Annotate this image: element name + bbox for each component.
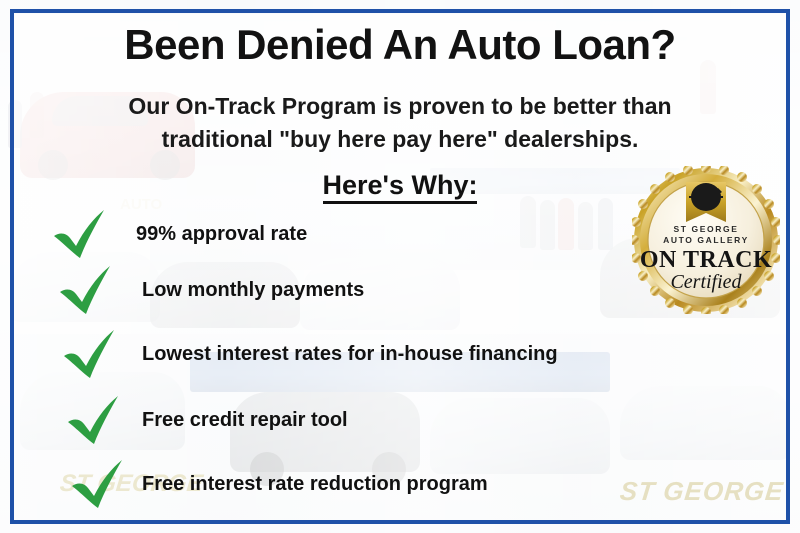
badge-title: ON TRACK [640,247,772,273]
certification-badge: ST GEORGE AUTO GALLERY ON TRACK Certifie… [632,166,780,314]
list-item-label: Low monthly payments [142,279,364,302]
check-icon [60,328,118,380]
check-icon [50,208,108,260]
list-item: 99% approval rate [50,206,307,262]
ad-content: Been Denied An Auto Loan? Our On-Track P… [0,0,800,533]
list-item: Low monthly payments [56,262,364,318]
ad-banner: AUTO ST GEORGE ST GEORGE Been Denied An … [0,0,800,533]
badge-subtitle: Certified [670,271,742,293]
list-item: Lowest interest rates for in-house finan… [60,326,558,382]
badge-brand-line-2: AUTO GALLERY [663,235,749,245]
list-item: Free interest rate reduction program [68,456,488,512]
badge-brand-line-1: ST GEORGE [674,224,739,234]
check-icon [64,394,122,446]
check-icon [68,458,126,510]
list-item-label: Free credit repair tool [142,409,348,432]
list-item: Free credit repair tool [64,392,348,448]
check-icon [56,264,114,316]
list-item-label: Lowest interest rates for in-house finan… [142,343,558,366]
list-item-label: Free interest rate reduction program [142,473,488,496]
list-item-label: 99% approval rate [136,223,307,246]
